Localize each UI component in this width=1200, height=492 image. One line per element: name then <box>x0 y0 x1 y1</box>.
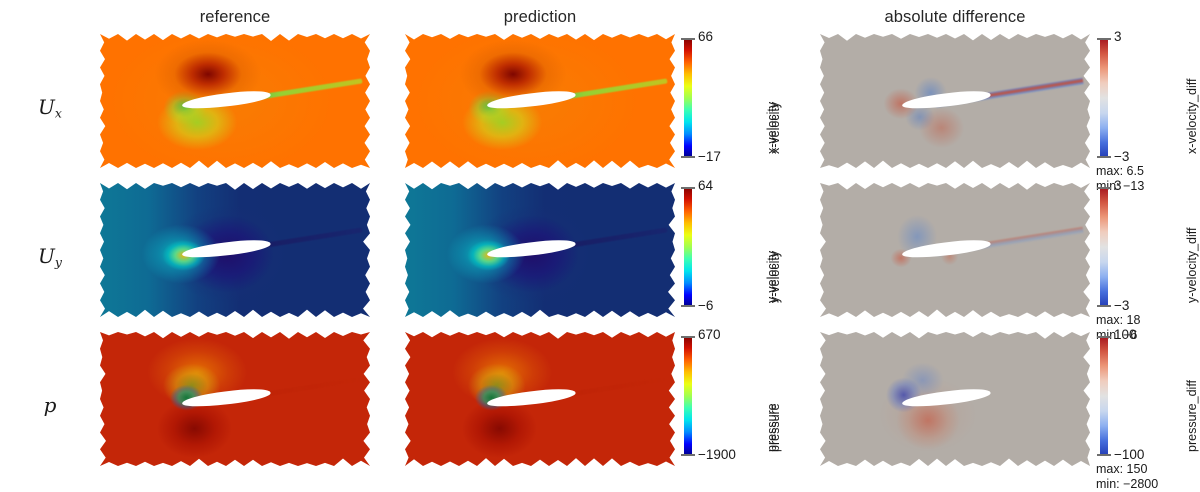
colorbar-y-velocity-max-label: 64 <box>698 178 713 193</box>
colorbar-pressure <box>684 336 692 456</box>
row-label-p-base: p <box>44 393 57 417</box>
row-label-ux-sub: x <box>55 106 62 121</box>
colorbar-x-velocity_diff-min-label: −3 <box>1114 149 1129 164</box>
row-label-ux-base: U <box>38 95 55 119</box>
stat-max: max: 6.5 <box>1096 164 1144 179</box>
field-panel-pressure-reference <box>100 332 370 466</box>
stat-max: max: 18 <box>1096 313 1140 328</box>
colorbar-x-velocity <box>684 38 692 158</box>
colorbar-x-velocity-max-label: 66 <box>698 29 713 44</box>
colorbar-tick-min <box>681 454 695 456</box>
colorbar-tick-min <box>1097 305 1111 307</box>
colorbar-pressure_diff-axis-label: pressure_diff <box>1185 380 1199 452</box>
colorbar-tick-min <box>1097 454 1111 456</box>
colorbar-y-velocity-min-label: −6 <box>698 298 713 313</box>
field-panel-y-velocity-prediction <box>405 183 675 317</box>
colorbar-pressure-max-label: 670 <box>698 327 721 342</box>
colorbar-y-velocity_diff-min-label: −3 <box>1114 298 1129 313</box>
row-label-p: p <box>10 393 90 419</box>
field-panel-y-velocity-reference <box>100 183 370 317</box>
row-label-uy: Uy <box>10 244 90 270</box>
column-title-absolute-difference: absolute difference <box>820 8 1090 27</box>
diff-row-axis-label-x-velocity: x-velocity <box>768 102 782 154</box>
colorbar-tick-max <box>681 38 695 40</box>
colorbar-pressure_diff-min-label: −100 <box>1114 447 1144 462</box>
colorbar-x-velocity_diff <box>1100 38 1108 158</box>
colorbar-x-velocity_diff-axis-label: x-velocity_diff <box>1185 79 1199 155</box>
colorbar-x-velocity-min-label: −17 <box>698 149 721 164</box>
diff-row-axis-label-y-velocity: y-velocity <box>768 251 782 303</box>
colorbar-tick-max <box>1097 38 1111 40</box>
column-title-reference: reference <box>100 8 370 27</box>
colorbar-y-velocity_diff <box>1100 187 1108 307</box>
colorbar-pressure_diff <box>1100 336 1108 456</box>
field-comparison-figure: reference prediction absolute difference… <box>0 0 1200 486</box>
colorbar-pressure_diff-stats: max: 150min: −2800 <box>1096 462 1158 492</box>
field-panel-x-velocity-absolute_difference <box>820 34 1090 168</box>
row-label-uy-sub: y <box>55 255 62 270</box>
row-label-uy-base: U <box>38 244 55 268</box>
diff-row-axis-label-pressure: pressure <box>768 403 782 452</box>
colorbar-tick-min <box>1097 156 1111 158</box>
colorbar-pressure_diff-max-label: 100 <box>1114 327 1137 342</box>
field-panel-pressure-absolute_difference <box>820 332 1090 466</box>
field-panel-x-velocity-reference <box>100 34 370 168</box>
stat-max: max: 150 <box>1096 462 1158 477</box>
colorbar-pressure-min-label: −1900 <box>698 447 736 462</box>
colorbar-tick-min <box>681 156 695 158</box>
colorbar-tick-max <box>1097 187 1111 189</box>
field-panel-y-velocity-absolute_difference <box>820 183 1090 317</box>
field-panel-pressure-prediction <box>405 332 675 466</box>
colorbar-tick-max <box>681 187 695 189</box>
row-label-ux: Ux <box>10 95 90 121</box>
colorbar-tick-max <box>681 336 695 338</box>
colorbar-y-velocity <box>684 187 692 307</box>
colorbar-x-velocity_diff-max-label: 3 <box>1114 29 1122 44</box>
stat-min: min: −2800 <box>1096 477 1158 492</box>
colorbar-tick-max <box>1097 336 1111 338</box>
colorbar-y-velocity_diff-axis-label: y-velocity_diff <box>1185 228 1199 304</box>
field-panel-x-velocity-prediction <box>405 34 675 168</box>
colorbar-tick-min <box>681 305 695 307</box>
colorbar-y-velocity_diff-max-label: 3 <box>1114 178 1122 193</box>
column-title-prediction: prediction <box>405 8 675 27</box>
